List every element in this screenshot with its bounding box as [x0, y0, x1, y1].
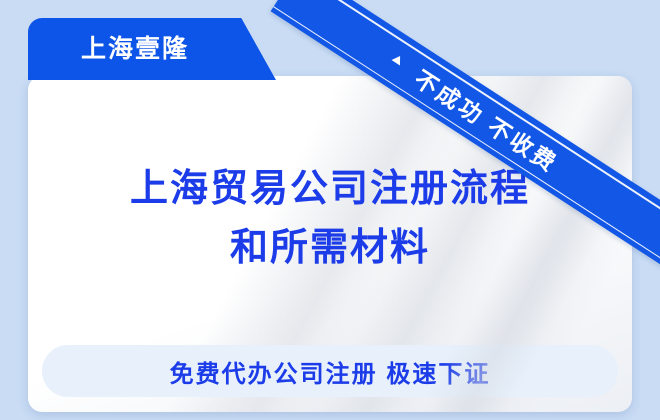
brand-tab: 上海壹隆 — [28, 18, 276, 80]
brand-tab-inner: 上海壹隆 — [28, 18, 242, 80]
cta-banner[interactable]: 免费代办公司注册 极速下证 — [42, 345, 618, 397]
cta-label: 免费代办公司注册 极速下证 — [170, 354, 491, 389]
brand-label: 上海壹隆 — [81, 37, 189, 62]
promo-poster: 上海贸易公司注册流程 和所需材料 免费代办公司注册 极速下证 上海壹隆 不成功 … — [0, 0, 660, 420]
headline-line-2: 和所需材料 — [28, 219, 632, 278]
triangle-up-icon — [392, 53, 405, 65]
